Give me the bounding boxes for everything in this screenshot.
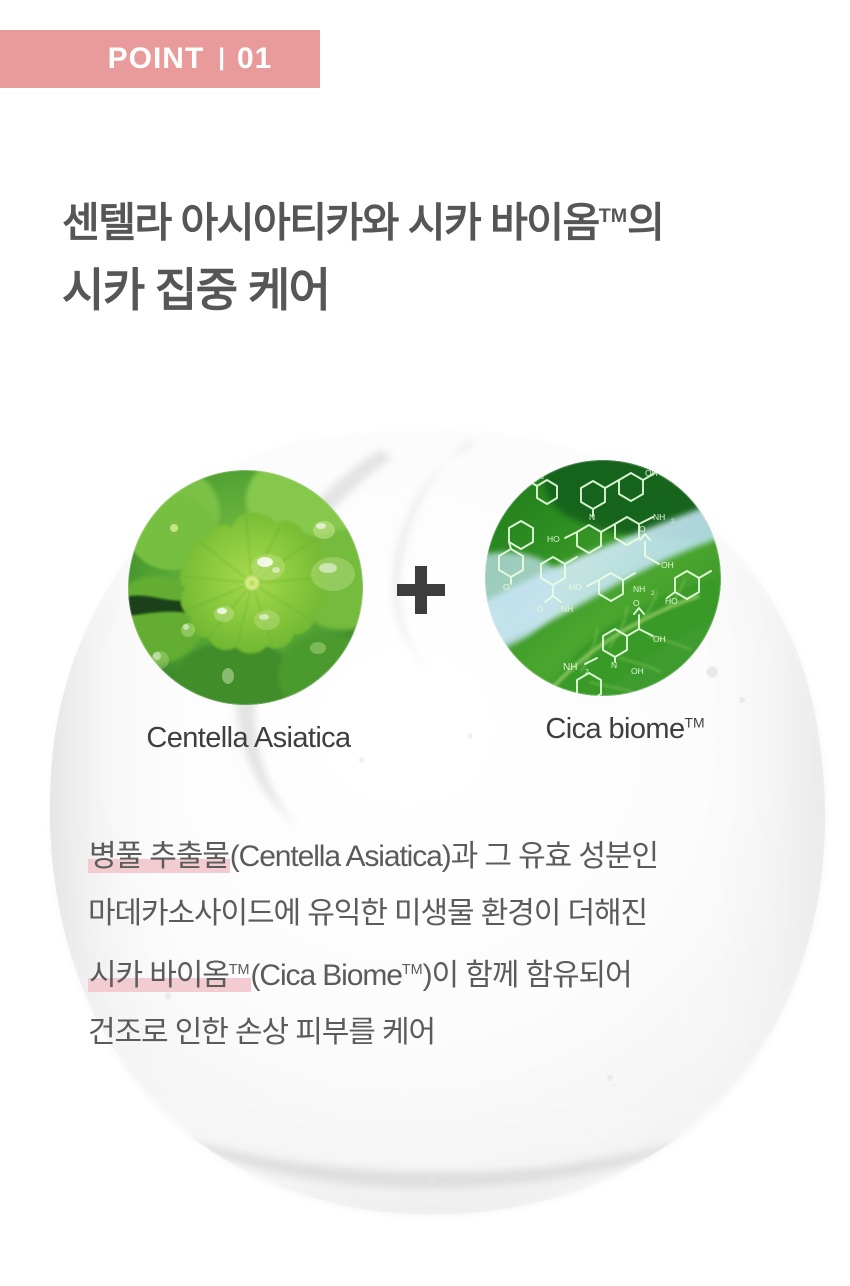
svg-text:NH: NH <box>563 662 577 673</box>
point-banner-separator: | <box>218 44 225 72</box>
centella-asiatica-leaves-photo <box>128 470 363 705</box>
body-line-3-highlight: 시카 바이옴TM <box>88 959 251 992</box>
ingredient-label-cica-biome: Cica biomeTM <box>515 712 735 747</box>
svg-text:O: O <box>503 582 510 592</box>
point-banner-number: 01 <box>237 44 272 74</box>
svg-text:OH: OH <box>631 666 644 676</box>
body-line-1: 병풀 추출물(Centella Asiatica)과 그 유효 성분인 <box>88 828 788 885</box>
headline-block: 센텔라 아시아티카와 시카 바이옴TM의 시카 집중 케어 <box>62 188 822 321</box>
body-line-3-rest-b: )이 함께 함유되어 <box>423 959 632 992</box>
svg-text:HO: HO <box>569 582 582 592</box>
trademark-symbol: TM <box>229 962 250 978</box>
body-line-1-highlight: 병풀 추출물 <box>88 840 230 873</box>
ingredients-row: Centella Asiatica <box>0 470 850 770</box>
trademark-symbol: TM <box>402 962 423 978</box>
svg-text:OH: OH <box>661 560 674 570</box>
trademark-symbol: TM <box>599 205 627 227</box>
headline-line-1: 센텔라 아시아티카와 시카 바이옴TM의 <box>62 188 822 251</box>
body-line-3: 시카 바이옴TM(Cica BiomeTM)이 함께 함유되어 <box>88 942 788 1004</box>
trademark-symbol: TM <box>684 714 704 730</box>
svg-text:HO: HO <box>547 534 560 544</box>
svg-text:O: O <box>633 598 640 608</box>
svg-text:OH: OH <box>653 634 666 644</box>
plus-icon-vertical-bar <box>415 566 427 614</box>
svg-text:NH: NH <box>561 604 573 614</box>
point-banner-label: POINT <box>108 44 205 74</box>
svg-text:O: O <box>537 604 544 614</box>
headline-line-2: 시카 집중 케어 <box>62 259 822 321</box>
svg-text:NH: NH <box>523 468 535 478</box>
body-paragraph: 병풀 추출물(Centella Asiatica)과 그 유효 성분인 마데카소… <box>88 828 788 1061</box>
point-banner: POINT | 01 <box>0 30 320 88</box>
body-line-2: 마데카소사이드에 유익한 미생물 환경이 더해진 <box>88 885 788 942</box>
headline-line-1-suffix: 의 <box>627 200 663 246</box>
svg-text:NH: NH <box>633 584 645 594</box>
ingredient-centella-asiatica: Centella Asiatica <box>110 470 375 756</box>
svg-text:NH: NH <box>653 512 665 522</box>
headline-line-1-text: 센텔라 아시아티카와 시카 바이옴 <box>62 200 599 246</box>
cica-biome-leaf-molecules-photo: NH 2 N OH HO <box>485 460 721 696</box>
body-line-4: 건조로 인한 손상 피부를 케어 <box>88 1004 788 1061</box>
svg-text:O: O <box>639 524 646 534</box>
body-line-3-rest-a: (Cica Biome <box>251 959 402 992</box>
body-line-1-rest: (Centella Asiatica)과 그 유효 성분인 <box>230 840 658 873</box>
plus-icon <box>397 566 445 614</box>
ingredient-cica-biome: NH 2 N OH HO <box>470 460 735 747</box>
ingredient-label-centella: Centella Asiatica <box>122 721 375 756</box>
ingredient-label-cica-biome-text: Cica biome <box>545 713 684 745</box>
body-line-3-highlight-text: 시카 바이옴 <box>89 959 229 992</box>
